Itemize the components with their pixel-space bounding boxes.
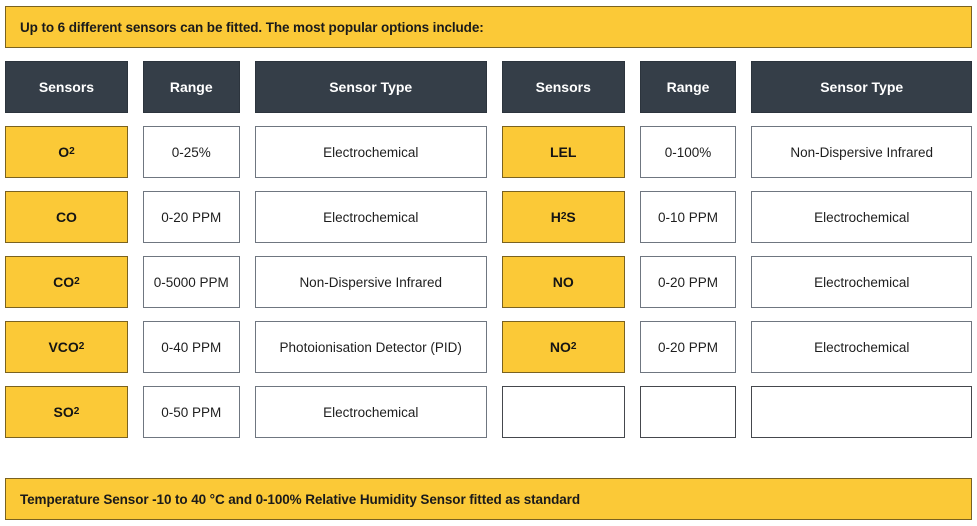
table-row: CO0-20 PPMElectrochemicalH2S0-10 PPMElec… bbox=[5, 191, 972, 243]
sensor-type-cell: Electrochemical bbox=[751, 256, 972, 308]
table-row: CO20-5000 PPMNon-Dispersive InfraredNO0-… bbox=[5, 256, 972, 308]
column-header-sensors-left: Sensors bbox=[5, 61, 128, 113]
sensor-range-cell: 0-20 PPM bbox=[640, 256, 737, 308]
sensor-range-cell: 0-5000 PPM bbox=[143, 256, 240, 308]
sensor-name-cell: CO2 bbox=[5, 256, 128, 308]
sensor-type-cell: Electrochemical bbox=[255, 191, 487, 243]
sensor-range-cell: 0-20 PPM bbox=[640, 321, 737, 373]
column-header-sensor-type-right: Sensor Type bbox=[751, 61, 972, 113]
sensor-type-cell: Electrochemical bbox=[255, 386, 487, 438]
standard-sensors-text: Temperature Sensor -10 to 40 °C and 0-10… bbox=[20, 492, 580, 507]
table-row: VCO20-40 PPMPhotoionisation Detector (PI… bbox=[5, 321, 972, 373]
sensor-type-cell: Electrochemical bbox=[751, 321, 972, 373]
column-header-sensors-right: Sensors bbox=[502, 61, 625, 113]
sensor-range-cell: 0-10 PPM bbox=[640, 191, 737, 243]
table-row: O20-25%ElectrochemicalLEL0-100%Non-Dispe… bbox=[5, 126, 972, 178]
sensor-name-cell: VCO2 bbox=[5, 321, 128, 373]
column-header-sensor-type-left: Sensor Type bbox=[255, 61, 487, 113]
sensor-range-cell: 0-40 PPM bbox=[143, 321, 240, 373]
sensor-type-cell: Electrochemical bbox=[255, 126, 487, 178]
standard-sensors-banner: Temperature Sensor -10 to 40 °C and 0-10… bbox=[5, 478, 972, 520]
column-header-range-right: Range bbox=[640, 61, 737, 113]
sensor-range-cell: 0-50 PPM bbox=[143, 386, 240, 438]
sensor-type-cell: Non-Dispersive Infrared bbox=[255, 256, 487, 308]
empty-cell bbox=[640, 386, 737, 438]
sensor-type-cell: Electrochemical bbox=[751, 191, 972, 243]
empty-cell bbox=[502, 386, 625, 438]
sensor-range-cell: 0-20 PPM bbox=[143, 191, 240, 243]
sensor-name-cell: H2S bbox=[502, 191, 625, 243]
sensor-name-cell: NO2 bbox=[502, 321, 625, 373]
sensor-options-table: Up to 6 different sensors can be fitted.… bbox=[0, 0, 977, 526]
sensor-name-cell: LEL bbox=[502, 126, 625, 178]
table-header-row: Sensors Range Sensor Type Sensors Range … bbox=[5, 61, 972, 113]
sensor-range-cell: 0-100% bbox=[640, 126, 737, 178]
empty-cell bbox=[751, 386, 972, 438]
sensor-type-cell: Photoionisation Detector (PID) bbox=[255, 321, 487, 373]
table-grid: Sensors Range Sensor Type Sensors Range … bbox=[5, 61, 972, 466]
sensor-name-cell: SO2 bbox=[5, 386, 128, 438]
intro-banner: Up to 6 different sensors can be fitted.… bbox=[5, 6, 972, 48]
column-header-range-left: Range bbox=[143, 61, 240, 113]
sensor-range-cell: 0-25% bbox=[143, 126, 240, 178]
sensor-type-cell: Non-Dispersive Infrared bbox=[751, 126, 972, 178]
sensor-name-cell: O2 bbox=[5, 126, 128, 178]
table-row: SO20-50 PPMElectrochemical bbox=[5, 386, 972, 438]
sensor-name-cell: CO bbox=[5, 191, 128, 243]
intro-banner-text: Up to 6 different sensors can be fitted.… bbox=[20, 20, 484, 35]
sensor-name-cell: NO bbox=[502, 256, 625, 308]
